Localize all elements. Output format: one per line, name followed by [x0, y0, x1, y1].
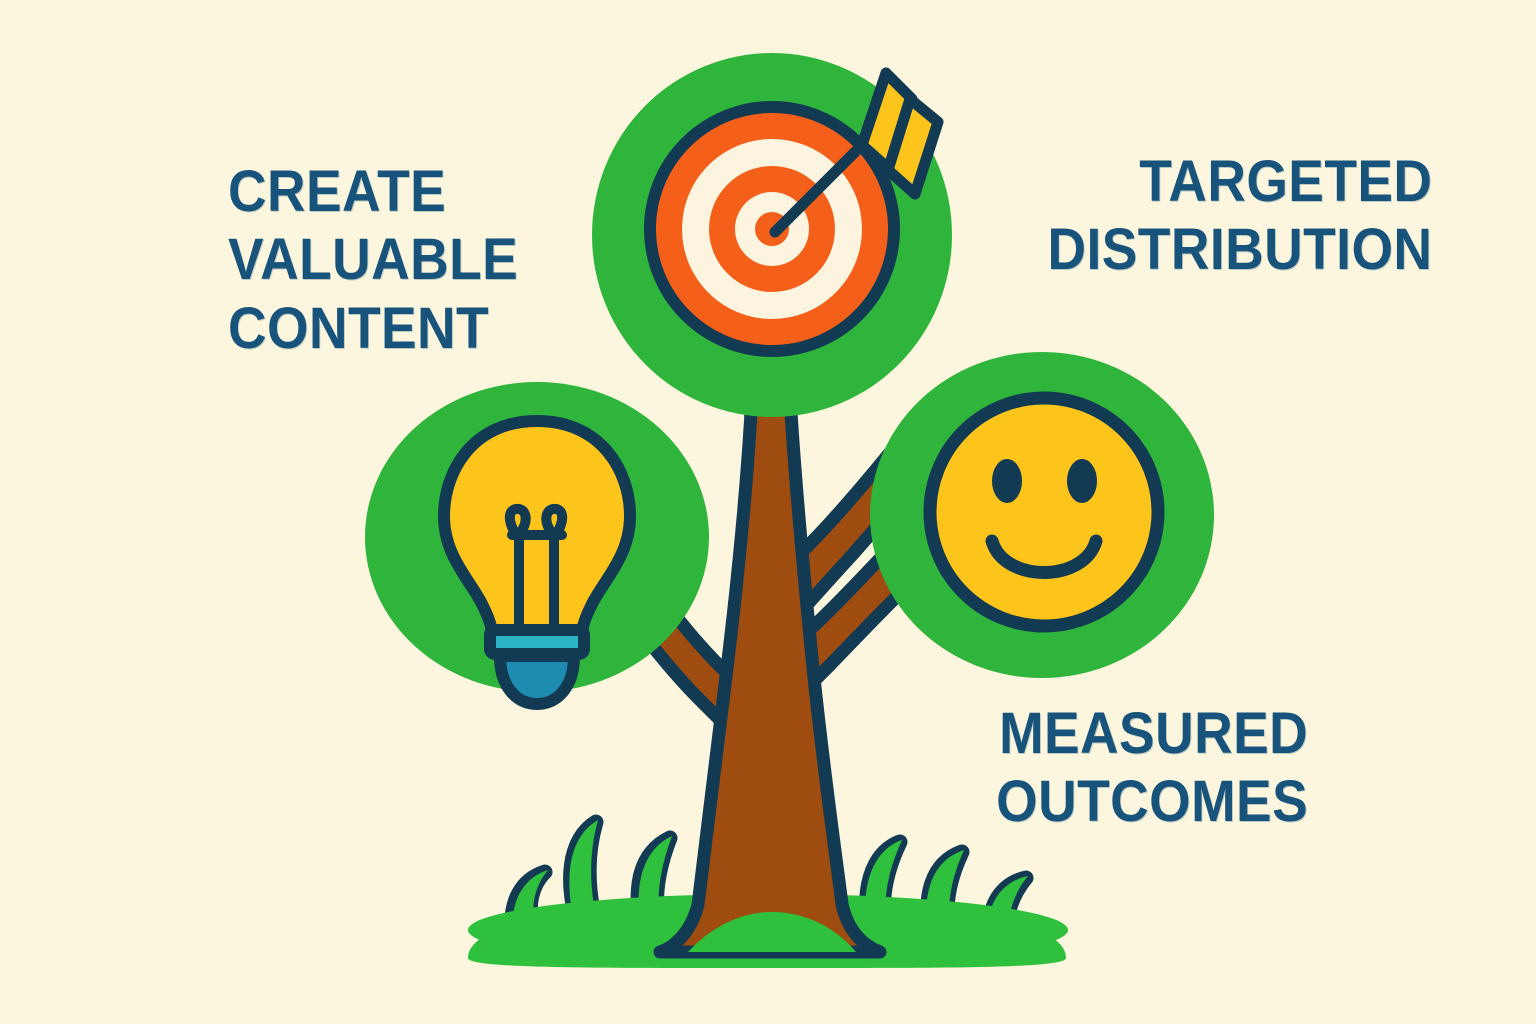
smiley-face-icon — [930, 398, 1158, 626]
smiley-face — [930, 398, 1158, 626]
label-targeted-distribution: TARGETED DISTRIBUTION — [1047, 148, 1432, 285]
bulb-cap — [500, 656, 574, 704]
label-create-valuable-content: CREATE VALUABLE CONTENT — [228, 158, 518, 363]
leaf-circle-smiley — [870, 352, 1214, 678]
smiley-eye-right — [1067, 459, 1097, 503]
poster-canvas: CREATE VALUABLE CONTENT TARGETED DISTRIB… — [0, 0, 1536, 1024]
smiley-eye-left — [992, 459, 1022, 503]
leaf-circle-target — [592, 53, 952, 417]
label-measured-outcomes: MEASURED OUTCOMES — [996, 700, 1308, 837]
